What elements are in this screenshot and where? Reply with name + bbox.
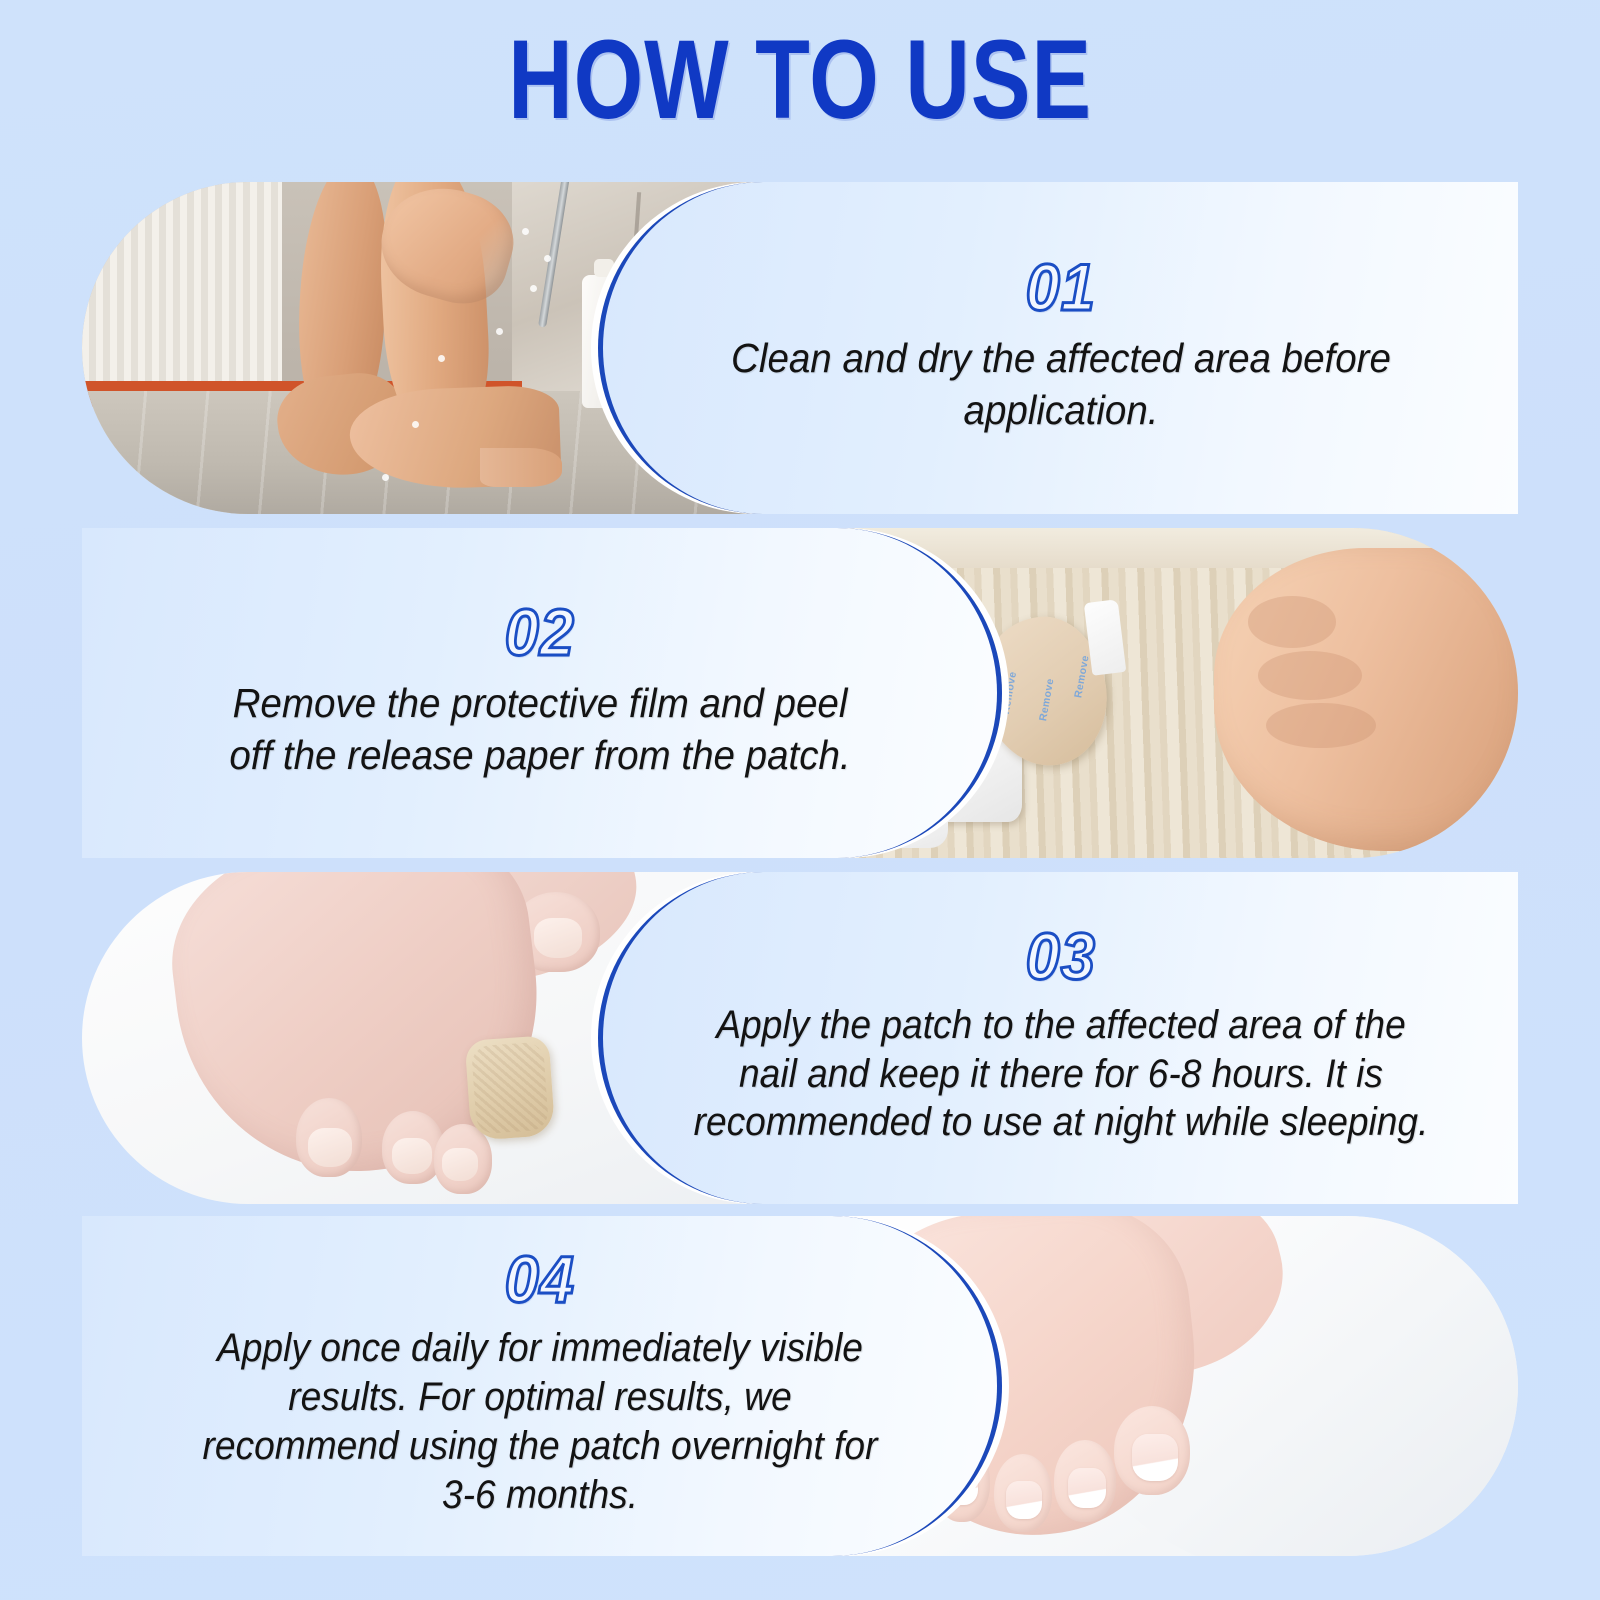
second-foot-toenail: [534, 918, 582, 958]
step-row-01: 01 Clean and dry the affected area befor…: [0, 182, 1600, 514]
water-splash: [438, 355, 445, 362]
step-01-card: 01 Clean and dry the affected area befor…: [598, 182, 1518, 514]
water-splash: [412, 421, 419, 428]
big-toenail: [1132, 1434, 1178, 1482]
step-02-number: 02: [504, 599, 574, 665]
front-toes: [480, 448, 562, 488]
step-03-text: Apply the patch to the affected area of …: [689, 1001, 1432, 1148]
toenail: [442, 1148, 478, 1181]
step-02-card: 02 Remove the protective film and peel o…: [82, 528, 1002, 858]
step-row-04: 04 Apply once daily for immediately visi…: [0, 1216, 1600, 1556]
toenail: [392, 1138, 432, 1175]
patch-print-label: Remove: [1037, 678, 1056, 723]
page-title: HOW TO USE: [160, 24, 1440, 136]
patch-print-label: Remove: [1000, 671, 1019, 716]
peeling-hand: [1214, 548, 1518, 852]
knuckle: [1258, 651, 1362, 700]
step-01-number: 01: [1025, 254, 1095, 320]
patch-print-label: Remove: [1072, 655, 1091, 700]
toenail: [308, 1128, 352, 1168]
toenail: [1068, 1468, 1106, 1509]
step-row-02: Remove Remove Remove 02 Remove the prote…: [0, 528, 1600, 858]
applied-toe-patch: [465, 1035, 556, 1140]
step-01-text: Clean and dry the affected area before a…: [703, 332, 1417, 437]
knuckle: [1248, 596, 1336, 648]
step-03-card: 03 Apply the patch to the affected area …: [598, 872, 1518, 1204]
step-02-text: Remove the protective film and peel off …: [211, 677, 869, 782]
page-header: HOW TO USE: [0, 24, 1600, 136]
water-splash: [530, 285, 537, 292]
water-splash: [496, 328, 503, 335]
water-splash: [544, 255, 551, 262]
step-04-card: 04 Apply once daily for immediately visi…: [82, 1216, 1002, 1556]
step-04-text: Apply once daily for immediately visible…: [201, 1324, 878, 1520]
toenail: [1006, 1481, 1042, 1518]
step-row-03: 03 Apply the patch to the affected area …: [0, 872, 1600, 1204]
step-04-number: 04: [504, 1246, 574, 1312]
knuckle: [1266, 703, 1376, 749]
step-03-number: 03: [1025, 923, 1095, 989]
